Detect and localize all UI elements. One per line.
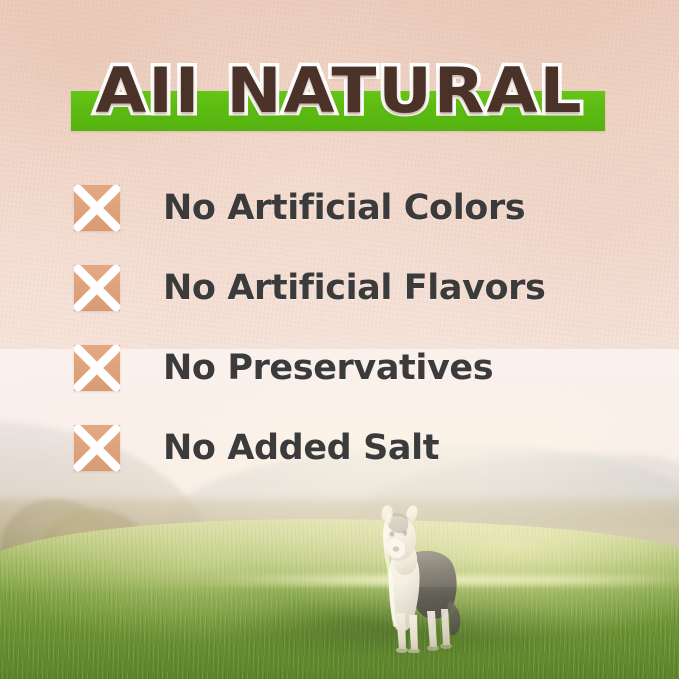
product-feature-poster: AII NATURAL No Artificial Colors xyxy=(0,0,679,679)
list-item: No Artificial Colors xyxy=(0,168,679,248)
claims-list: No Artificial Colors No Artificial Flavo… xyxy=(0,168,679,488)
list-item: No Added Salt xyxy=(0,408,679,488)
x-mark-icon xyxy=(74,265,120,311)
claim-label: No Artificial Flavors xyxy=(163,271,545,306)
dog-silhouette xyxy=(355,503,473,653)
list-item: No Artificial Flavors xyxy=(0,248,679,328)
x-mark-icon xyxy=(74,425,120,471)
list-item: No Preservatives xyxy=(0,328,679,408)
claim-label: No Added Salt xyxy=(163,431,439,466)
page-title: AII NATURAL xyxy=(0,52,679,130)
claim-label: No Preservatives xyxy=(163,351,493,386)
x-mark-icon xyxy=(74,185,120,231)
x-mark-icon xyxy=(74,345,120,391)
headline-block: AII NATURAL xyxy=(0,52,679,138)
claim-label: No Artificial Colors xyxy=(163,191,525,226)
